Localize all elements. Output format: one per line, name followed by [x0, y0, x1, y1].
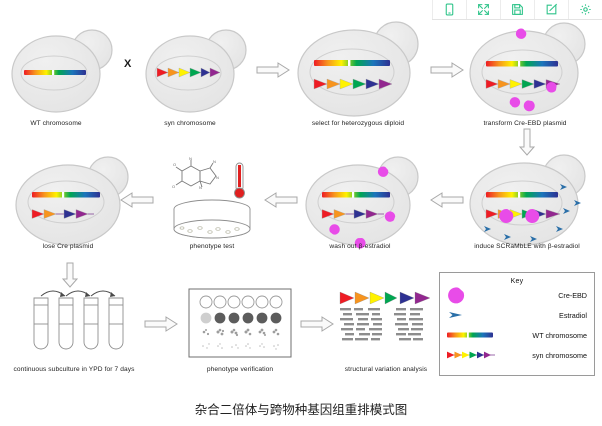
legend-item-wt-chromosome: WT chromosome: [440, 325, 594, 345]
arrow-to-phenotype-test: [264, 192, 298, 208]
cell-lose-cre-plasmid: [12, 152, 138, 248]
svg-text:O: O: [172, 184, 175, 189]
structural-variation-reads: [338, 288, 434, 355]
legend-label-cre-ebd: Cre-EBD: [499, 291, 587, 300]
step-label-lose-cre-plasmid: lose Cre plasmid: [43, 243, 94, 250]
legend-item-syn-chromosome: syn chromosome: [440, 345, 594, 365]
step-label-transform-plasmid: transform Cre-EBD plasmid: [483, 120, 566, 127]
cell-induce-scramble: [464, 150, 598, 248]
svg-text:N: N: [216, 175, 219, 180]
edit-share-icon[interactable]: [534, 0, 568, 19]
syn-chromosome-arrows-icon: [447, 350, 499, 360]
estradiol-arrow-icon: [447, 309, 499, 321]
step-label-syn-chromosome: syn chromosome: [164, 120, 216, 127]
fullscreen-expand-icon[interactable]: [466, 0, 500, 19]
cell-transform-plasmid: [464, 18, 598, 118]
phenotype-verification-plate: [188, 288, 292, 363]
svg-text:O: O: [173, 162, 176, 167]
step-label-phenotype-verification: phenotype verification: [207, 366, 273, 373]
legend-box: Key Cre-EBD Estradiol: [439, 272, 595, 376]
svg-text:N: N: [199, 185, 202, 190]
svg-text:N: N: [213, 159, 216, 164]
phenotype-test-group: O O N N N N: [160, 155, 264, 252]
arrow-to-phenotype-verification: [144, 316, 178, 332]
save-icon[interactable]: [500, 0, 534, 19]
legend-label-estradiol: Estradiol: [499, 311, 587, 320]
cell-wash-out-estradiol: [300, 152, 430, 248]
arrow-down-to-subculture: [62, 262, 78, 288]
step-label-subculture: continuous subculture in YPD for 7 days: [13, 366, 134, 373]
step-label-structural-analysis: structural variation analysis: [345, 366, 427, 373]
step-label-induce-scramble: induce SCRaMbLE with β-estradiol: [474, 243, 580, 250]
legend-item-cre-ebd: Cre-EBD: [440, 285, 594, 305]
arrow-to-transform: [430, 62, 464, 78]
arrow-to-diploid: [256, 62, 290, 78]
step-label-heterozygous-diploid: select for heterozygous diploid: [312, 120, 404, 127]
step-label-phenotype-test: phenotype test: [190, 243, 235, 250]
mobile-preview-icon[interactable]: [432, 0, 466, 19]
subculture-tubes-group: [14, 288, 134, 365]
svg-text:N: N: [189, 156, 192, 161]
cell-heterozygous-diploid: [292, 18, 432, 118]
wt-chromosome-bar-icon: [447, 331, 499, 339]
legend-label-syn-chromosome: syn chromosome: [499, 351, 587, 360]
step-label-wt-chromosome: WT chromosome: [30, 120, 81, 127]
arrow-to-washout: [430, 192, 464, 208]
legend-label-wt-chromosome: WT chromosome: [499, 331, 587, 340]
arrow-to-structural-analysis: [300, 316, 334, 332]
figure-caption: 杂合二倍体与跨物种基因组重排模式图: [0, 399, 602, 418]
figure-stage: WT chromosome X syn chromosome: [0, 0, 602, 426]
cre-ebd-pacman-icon: [447, 285, 499, 305]
legend-title: Key: [440, 278, 594, 285]
toolbar: [432, 0, 602, 20]
cell-wt-chromosome: [8, 24, 118, 116]
cross-symbol: X: [124, 58, 131, 70]
cell-syn-chromosome: [140, 24, 252, 116]
legend-item-estradiol: Estradiol: [440, 305, 594, 325]
step-label-wash-out-estradiol: wash out β-estradiol: [329, 243, 390, 250]
settings-gear-icon[interactable]: [568, 0, 602, 19]
